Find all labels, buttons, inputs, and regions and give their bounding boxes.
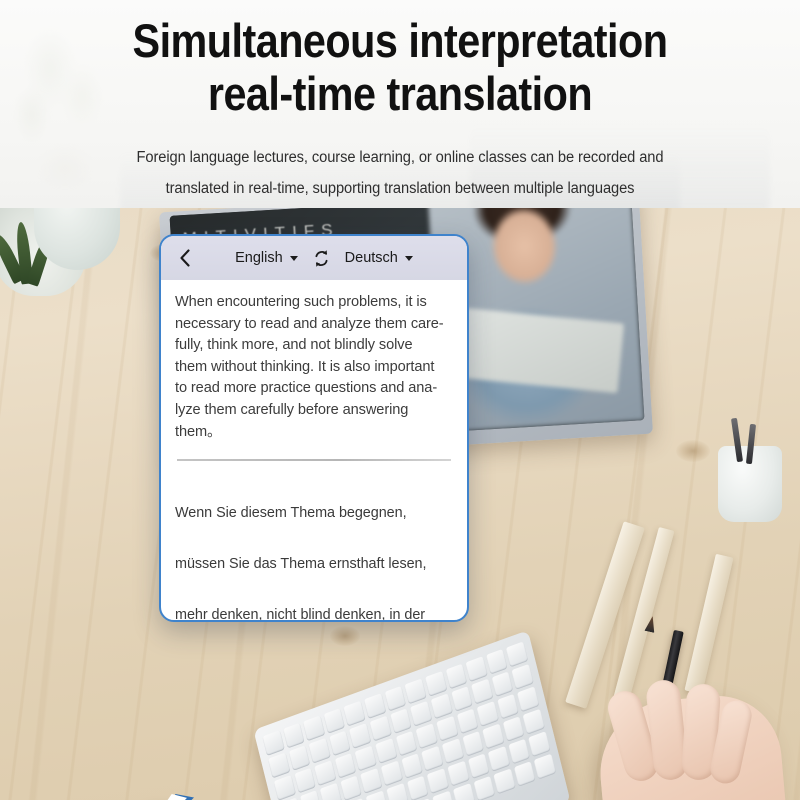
- translated-text[interactable]: Wenn Sie diesem Thema begegnen, müssen S…: [175, 476, 453, 622]
- chevron-down-icon: [405, 256, 413, 261]
- source-language-selector[interactable]: English: [235, 250, 298, 266]
- text-divider: [177, 459, 451, 460]
- translated-line: Wenn Sie diesem Thema begegnen,: [175, 501, 453, 526]
- page-title: Simultaneous interpretation real-time tr…: [48, 14, 752, 120]
- wood-knot: [330, 626, 360, 646]
- wood-knot: [676, 440, 710, 462]
- source-text[interactable]: When encountering such problems, it is n…: [175, 292, 453, 443]
- swap-languages-icon[interactable]: [311, 248, 332, 269]
- translation-card-header: English Deutsch: [161, 236, 467, 280]
- page-subtitle: Foreign language lectures, course learni…: [74, 142, 727, 204]
- translated-line: müssen Sie das Thema ernsthaft lesen,: [175, 552, 453, 577]
- translation-card-body: When encountering such problems, it is n…: [161, 280, 467, 622]
- pen-cup: [718, 446, 782, 522]
- target-language-selector[interactable]: Deutsch: [345, 250, 413, 266]
- chevron-down-icon: [290, 256, 298, 261]
- translated-line: mehr denken, nicht blind denken, in der: [175, 603, 453, 622]
- source-language-label: English: [235, 250, 283, 266]
- promo-header: Simultaneous interpretation real-time tr…: [0, 0, 800, 208]
- target-language-label: Deutsch: [345, 250, 398, 266]
- back-chevron-icon[interactable]: [175, 248, 195, 268]
- translation-card: English Deutsch When encountering such p…: [159, 234, 469, 622]
- language-selector-group: English Deutsch: [195, 248, 453, 269]
